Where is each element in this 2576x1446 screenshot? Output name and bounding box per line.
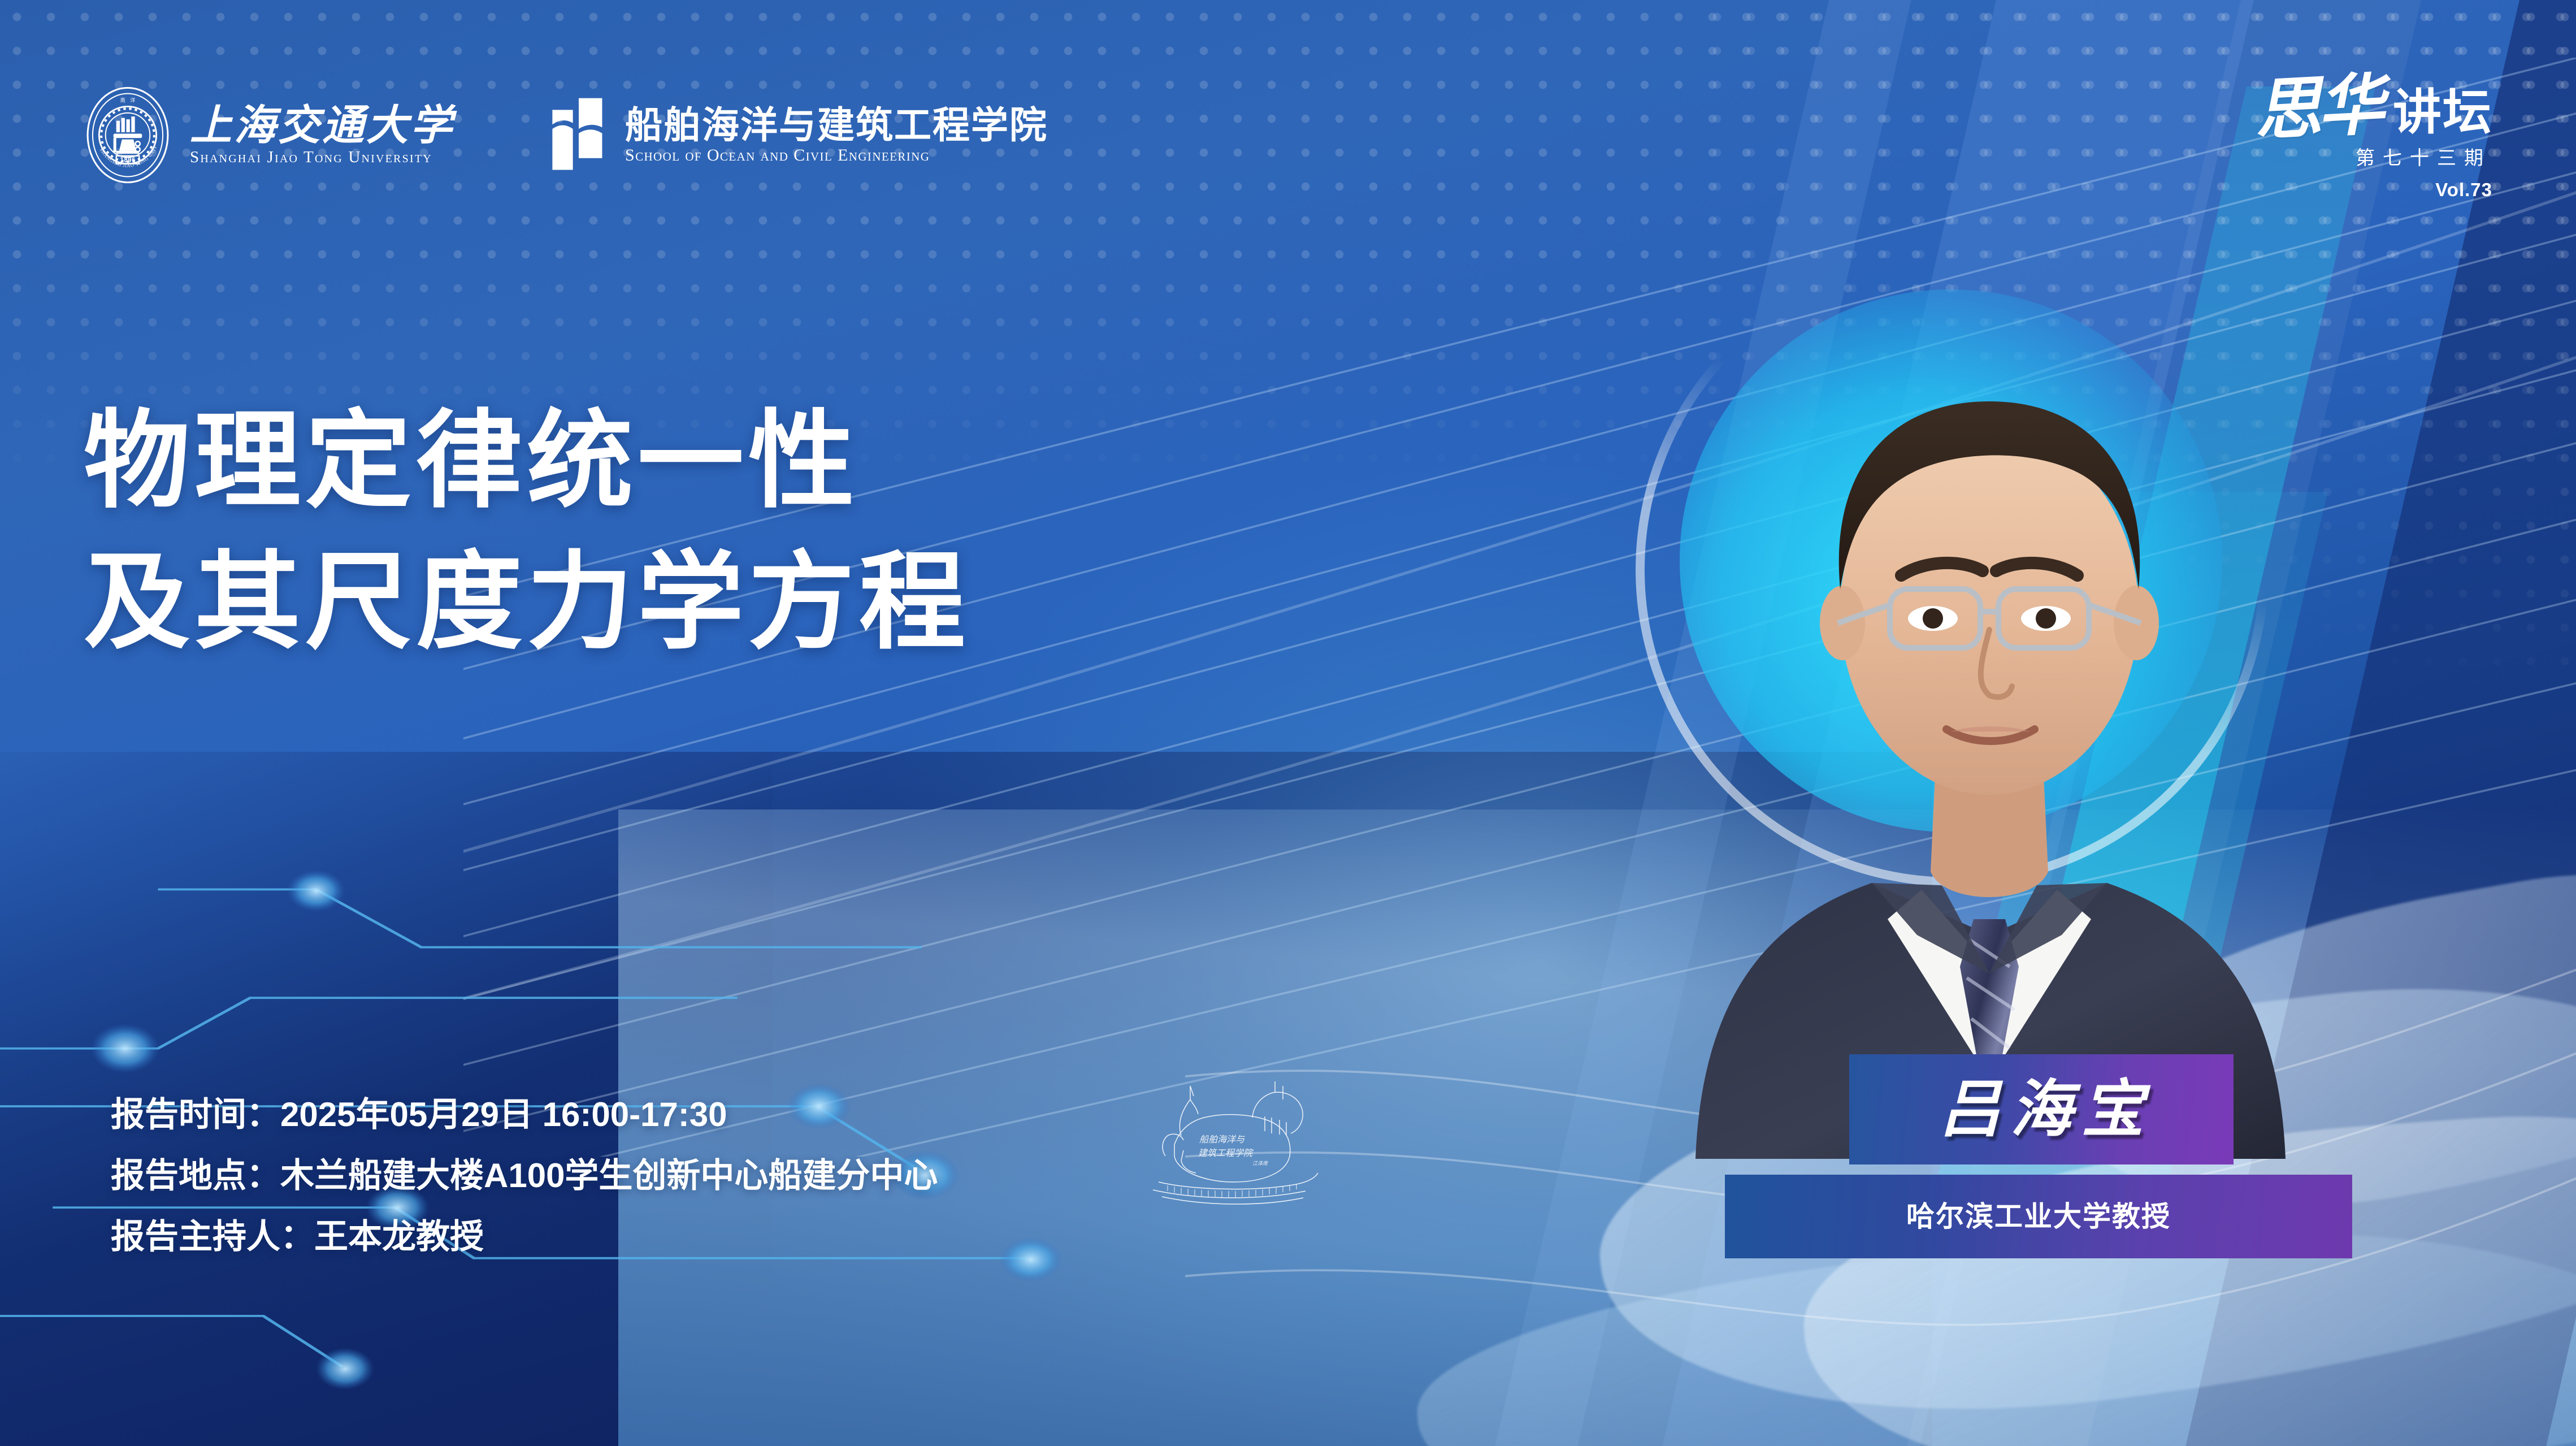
speaker-portrait bbox=[1650, 243, 2328, 1159]
soce-name-en: School of Ocean and Civil Engineering bbox=[625, 147, 1048, 164]
svg-text:江泽席: 江泽席 bbox=[1252, 1161, 1269, 1166]
lecture-poster: 1896 南 洋 SHANGHAI JIAO TONG UNIVERSITY 上… bbox=[0, 0, 2576, 1446]
speaker-affiliation: 哈尔滨工业大学教授 bbox=[1906, 1202, 2171, 1231]
event-info: 报告时间：2025年05月29日 16:00-17:30 报告地点：木兰船建大楼… bbox=[111, 1098, 938, 1254]
soce-mark-icon bbox=[549, 97, 608, 174]
event-host: 报告主持人：王本龙教授 bbox=[111, 1220, 938, 1254]
sjtu-name-en: Shanghai Jiao Tong University bbox=[190, 149, 454, 166]
header-logos: 1896 南 洋 SHANGHAI JIAO TONG UNIVERSITY 上… bbox=[85, 85, 1048, 185]
forum-name: 讲坛 bbox=[2393, 90, 2492, 136]
speaker-name-plate: 吕海宝 bbox=[1849, 1054, 2234, 1164]
sjtu-wordmark: 上海交通大学 Shanghai Jiao Tong University bbox=[190, 105, 454, 166]
forum-badge: 思华 讲坛 第七十三期 Vol.73 bbox=[2256, 75, 2492, 199]
forum-volume: Vol.73 bbox=[2256, 180, 2492, 199]
page-title: 物理定律统一性 及其尺度力学方程 bbox=[84, 390, 970, 673]
forum-calligraphy: 思华 bbox=[2253, 75, 2383, 142]
monument-text-line-1: 船舶海洋与 bbox=[1199, 1135, 1245, 1145]
speaker-name: 吕海宝 bbox=[1930, 1079, 2153, 1141]
event-location: 报告地点：木兰船建大楼A100学生创新中心船建分中心 bbox=[111, 1159, 938, 1193]
speaker-affiliation-plate: 哈尔滨工业大学教授 bbox=[1725, 1175, 2352, 1258]
stone-monument-icon: 船舶海洋与 建筑工程学院 江泽席 bbox=[1142, 1077, 1328, 1218]
sjtu-name-cn: 上海交通大学 bbox=[190, 105, 454, 147]
event-time: 报告时间：2025年05月29日 16:00-17:30 bbox=[111, 1098, 938, 1132]
svg-text:南 洋: 南 洋 bbox=[120, 97, 136, 103]
soce-name-cn: 船舶海洋与建筑工程学院 bbox=[625, 106, 1048, 144]
speaker-portrait-image bbox=[1650, 243, 2328, 1159]
soce-logo-lockup: 船舶海洋与建筑工程学院 School of Ocean and Civil En… bbox=[549, 97, 1048, 174]
soce-wordmark: 船舶海洋与建筑工程学院 School of Ocean and Civil En… bbox=[625, 106, 1048, 164]
forum-issue-number: 第七十三期 bbox=[2256, 149, 2492, 168]
sjtu-logo-lockup: 1896 南 洋 SHANGHAI JIAO TONG UNIVERSITY 上… bbox=[85, 85, 454, 185]
title-line-1: 物理定律统一性 bbox=[84, 390, 970, 531]
title-line-2: 及其尺度力学方程 bbox=[84, 531, 970, 673]
monument-text-line-2: 建筑工程学院 bbox=[1198, 1148, 1254, 1158]
sjtu-seal-icon: 1896 南 洋 SHANGHAI JIAO TONG UNIVERSITY bbox=[85, 85, 171, 185]
